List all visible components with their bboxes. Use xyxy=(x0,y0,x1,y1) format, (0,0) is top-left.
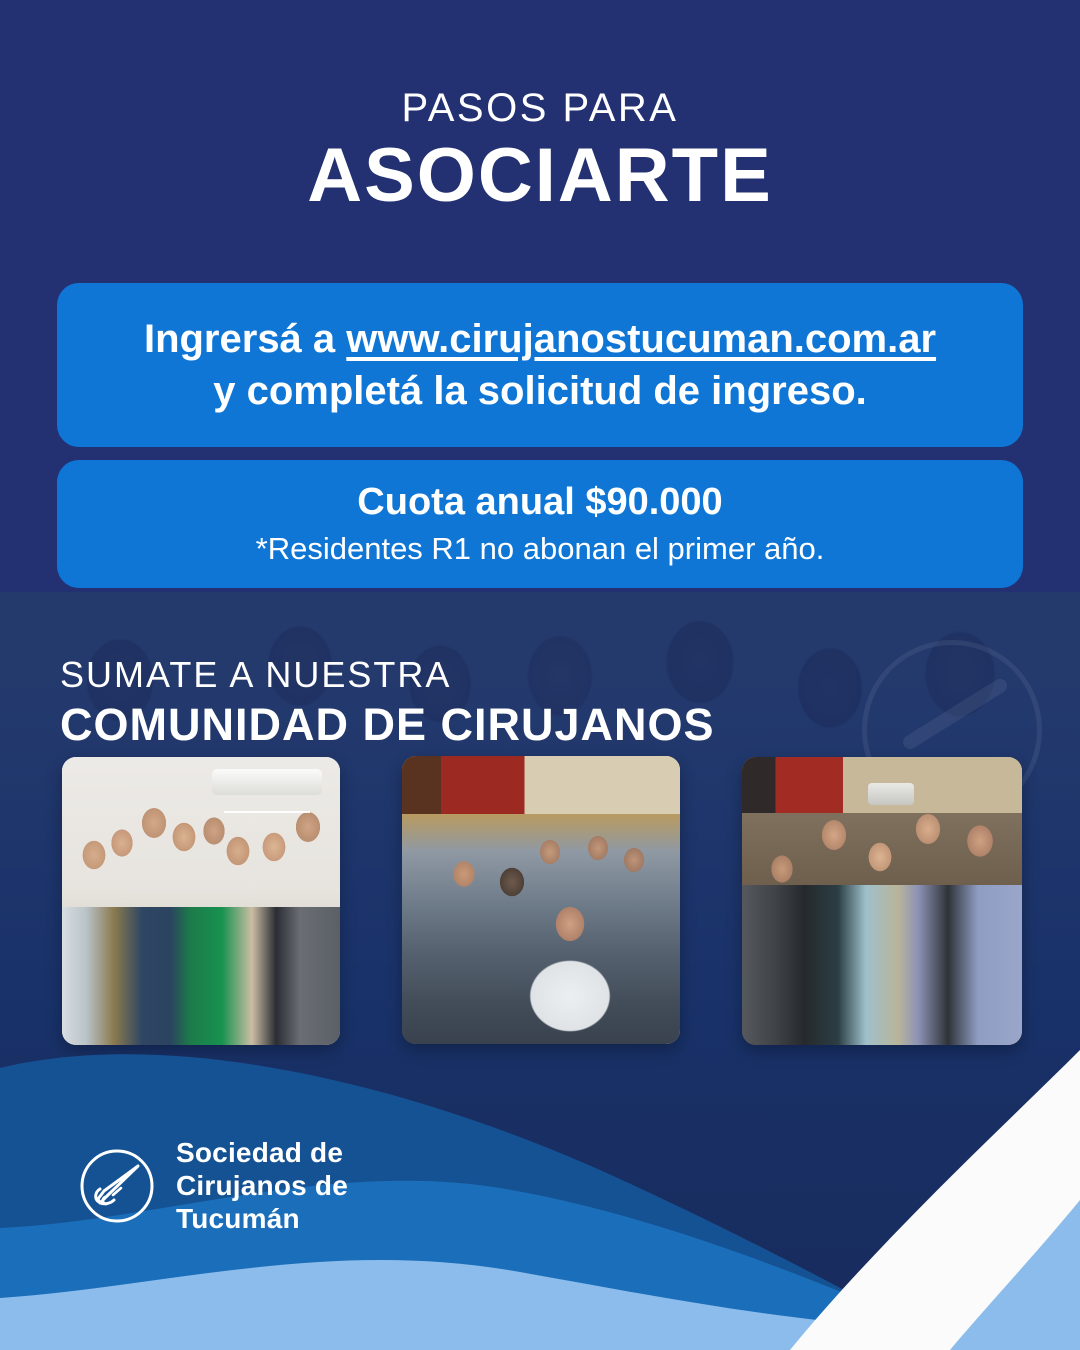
brand-logo: Sociedad de Cirujanos de Tucumán xyxy=(78,1136,348,1235)
page-header: PASOS PARA ASOCIARTE xyxy=(0,88,1080,216)
fee-card: Cuota anual $90.000 *Residentes R1 no ab… xyxy=(57,460,1023,588)
website-link[interactable]: www.cirujanostucuman.com.ar xyxy=(346,317,936,361)
gallery-photo-group-clinic-room xyxy=(62,757,340,1045)
website-card-prefix: Ingrersá a xyxy=(144,317,346,361)
website-card-line-1: Ingrersá a www.cirujanostucuman.com.ar xyxy=(144,313,936,365)
fee-note: *Residentes R1 no abonan el primer año. xyxy=(256,529,825,569)
photo-gallery xyxy=(0,757,1080,1052)
photo-image xyxy=(742,757,1022,1045)
logo-svg xyxy=(78,1147,156,1225)
gallery-photo-group-auditorium xyxy=(742,757,1022,1045)
fee-amount: Cuota anual $90.000 xyxy=(357,479,722,527)
brand-logo-line-2: Cirujanos de xyxy=(176,1169,348,1202)
community-title: COMUNIDAD DE CIRUJANOS xyxy=(60,699,715,751)
photo-image xyxy=(62,757,340,1045)
website-card[interactable]: Ingrersá a www.cirujanostucuman.com.ar y… xyxy=(57,283,1023,447)
website-card-line-2: y completá la solicitud de ingreso. xyxy=(213,365,867,417)
brand-logo-line-3: Tucumán xyxy=(176,1202,348,1235)
community-heading: SUMATE A NUESTRA COMUNIDAD DE CIRUJANOS xyxy=(60,655,715,750)
photo-image xyxy=(402,756,680,1044)
brand-logo-text: Sociedad de Cirujanos de Tucumán xyxy=(176,1136,348,1235)
poster-root: PASOS PARA ASOCIARTE Ingrersá a www.ciru… xyxy=(0,0,1080,1350)
page-title: ASOCIARTE xyxy=(0,136,1080,216)
brand-logo-line-1: Sociedad de xyxy=(176,1136,348,1169)
hand-scalpel-circle-icon xyxy=(78,1147,156,1225)
gallery-photo-auditorium-audience xyxy=(402,756,680,1044)
community-subtitle: SUMATE A NUESTRA xyxy=(60,655,715,695)
header-kicker: PASOS PARA xyxy=(0,88,1080,128)
